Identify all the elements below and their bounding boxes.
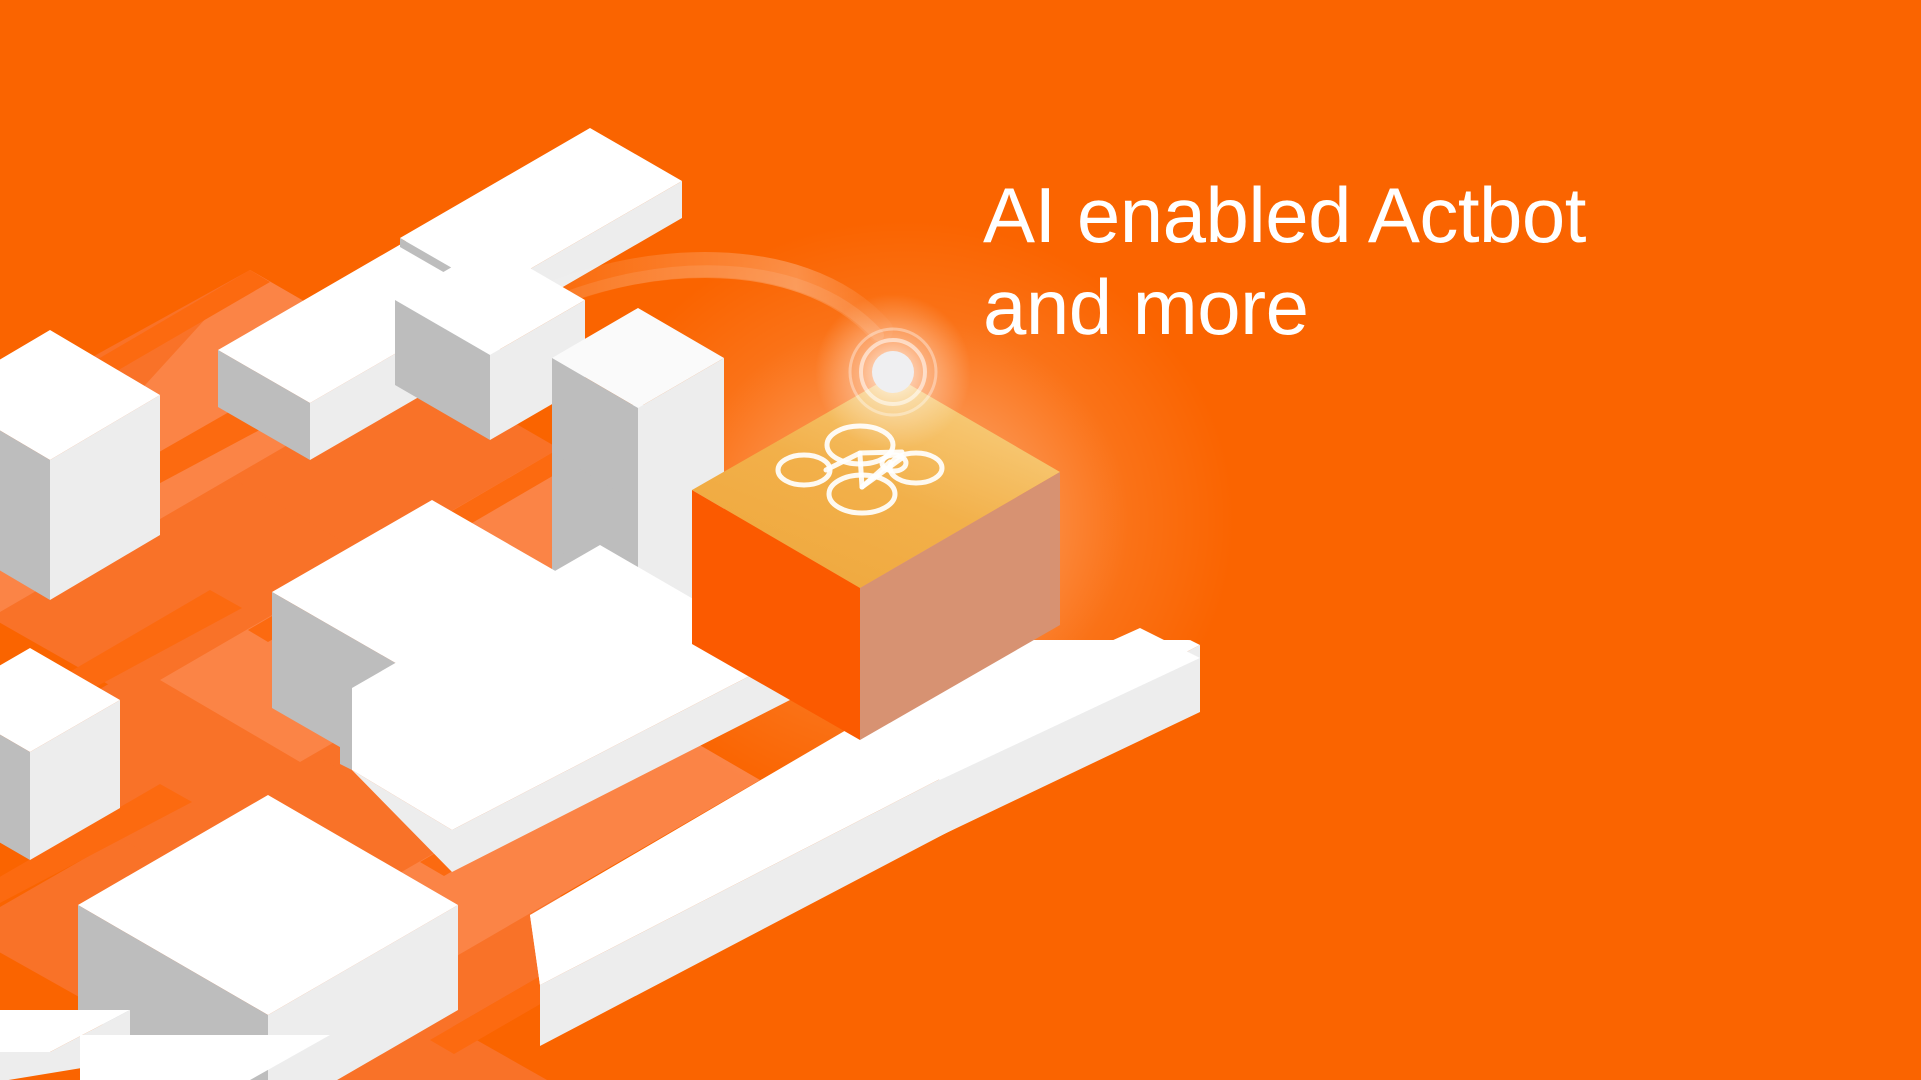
pulse-marker-dot xyxy=(872,351,914,393)
page-title: AI enabled Actbot and more xyxy=(983,170,1863,353)
pulse-marker[interactable] xyxy=(815,294,971,450)
isometric-city-illustration xyxy=(0,0,1921,1080)
hero-banner: AI enabled Actbot and more xyxy=(0,0,1921,1080)
